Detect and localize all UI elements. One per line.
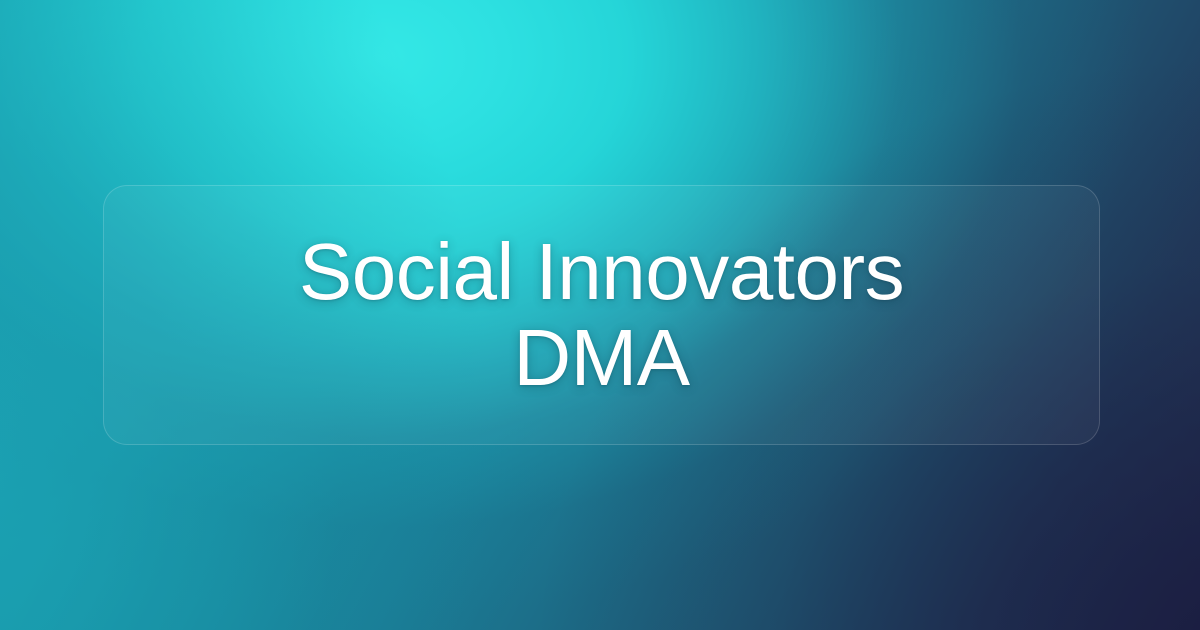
og-image-canvas: Social Innovators DMA	[0, 0, 1200, 630]
page-title: Social Innovators DMA	[144, 229, 1059, 401]
title-card-content: Social Innovators DMA	[104, 229, 1099, 401]
title-card: Social Innovators DMA	[103, 185, 1100, 445]
